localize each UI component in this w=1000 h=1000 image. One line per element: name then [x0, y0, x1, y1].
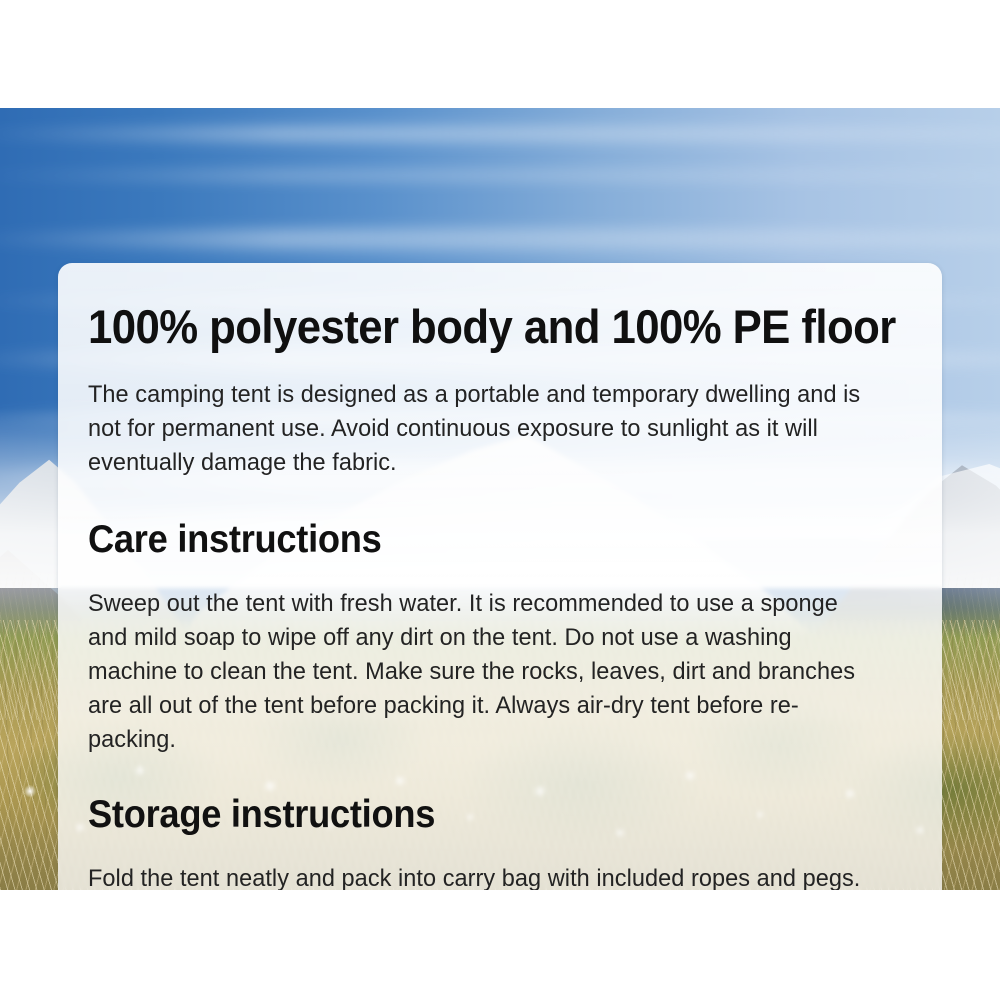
section-heading-storage-instructions: Storage instructions	[88, 795, 841, 834]
card-content: 100% polyester body and 100% PE floor Th…	[88, 303, 898, 890]
background-photo: 100% polyester body and 100% PE floor Th…	[0, 108, 1000, 890]
cloud-streak	[0, 126, 1000, 142]
intro-paragraph: The camping tent is designed as a portab…	[88, 378, 866, 480]
section-body-care-instructions: Sweep out the tent with fresh water. It …	[88, 587, 866, 757]
section-body-storage-instructions: Fold the tent neatly and pack into carry…	[88, 862, 866, 890]
cloud-streak	[0, 170, 1000, 181]
spacer	[88, 757, 898, 795]
spacer	[88, 480, 898, 520]
spacer	[88, 559, 898, 587]
section-heading-care-instructions: Care instructions	[88, 520, 841, 559]
spacer	[88, 350, 898, 378]
page-title: 100% polyester body and 100% PE floor	[88, 303, 841, 350]
spacer	[88, 834, 898, 862]
cloud-streak	[0, 228, 1000, 250]
page-root: 100% polyester body and 100% PE floor Th…	[0, 0, 1000, 1000]
information-card: 100% polyester body and 100% PE floor Th…	[58, 263, 942, 890]
